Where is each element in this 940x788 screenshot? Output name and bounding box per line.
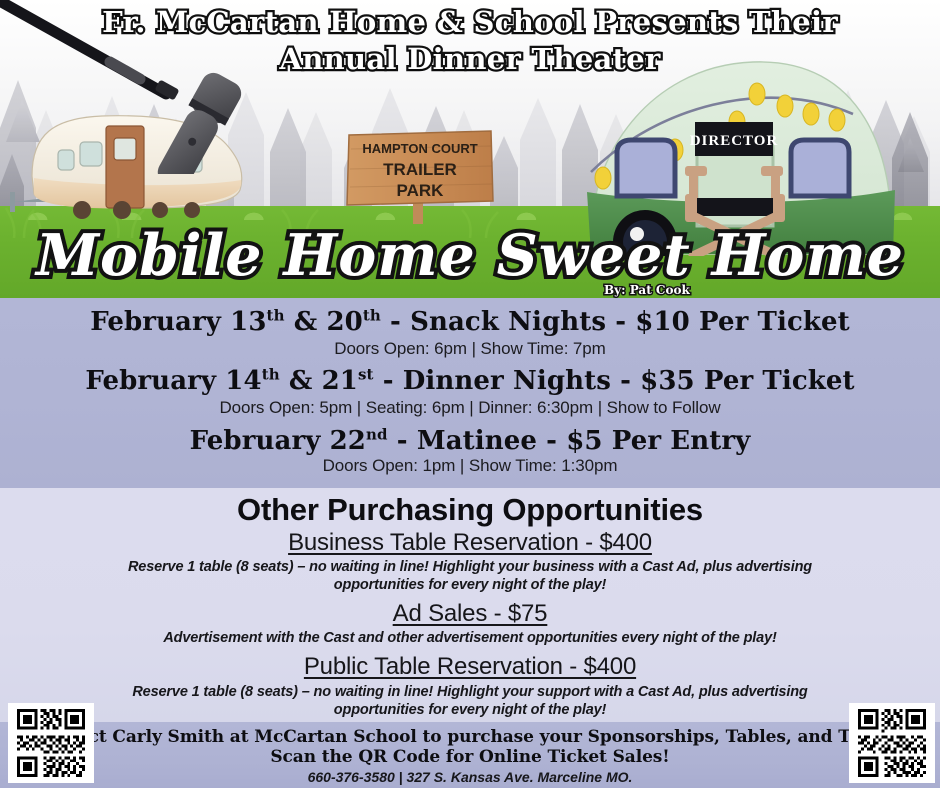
schedule-row-1-headline: February 13th & 20th - Snack Nights - $1… bbox=[0, 307, 940, 337]
sign-line-3: PARK bbox=[397, 181, 445, 200]
sign-line-1: HAMPTON COURT bbox=[362, 141, 477, 156]
schedule-row-3-headline: February 22nd - Matinee - $5 Per Entry bbox=[0, 426, 940, 456]
opportunity-2-heading: Ad Sales - $75 bbox=[0, 600, 940, 628]
schedule-row-2-details: Doors Open: 5pm | Seating: 6pm | Dinner:… bbox=[0, 398, 940, 418]
sched-2-sup1: th bbox=[262, 365, 280, 383]
opportunities-title: Other Purchasing Opportunities bbox=[0, 492, 940, 528]
opportunity-3-description: Reserve 1 table (8 seats) – no waiting i… bbox=[90, 683, 850, 719]
schedule-row-3-details: Doors Open: 1pm | Show Time: 1:30pm bbox=[0, 456, 940, 476]
footer-qr-line: Scan the QR Code for Online Ticket Sales… bbox=[0, 747, 940, 767]
header-line-2: Annual Dinner Theater bbox=[0, 41, 940, 78]
sched-2-post: - Dinner Nights - $35 Per Ticket bbox=[374, 366, 855, 396]
sched-1-post: - Snack Nights - $10 Per Ticket bbox=[381, 307, 850, 337]
opportunity-2-description-wrap: Advertisement with the Cast and other ad… bbox=[0, 629, 940, 647]
sched-1-sup2: th bbox=[363, 306, 381, 324]
opportunity-1-description-wrap: Reserve 1 table (8 seats) – no waiting i… bbox=[0, 558, 940, 594]
sched-2-mid: & 21 bbox=[280, 366, 358, 396]
schedule-row-1-details: Doors Open: 6pm | Show Time: 7pm bbox=[0, 339, 940, 359]
header-line-1: Fr. McCartan Home & School Presents Thei… bbox=[0, 4, 940, 41]
qr-code-left-icon bbox=[14, 706, 88, 780]
sched-2-sup2: st bbox=[358, 365, 374, 383]
opportunities-band: Other Purchasing Opportunities Business … bbox=[0, 488, 940, 722]
footer-address-line: 660-376-3580 | 327 S. Kansas Ave. Marcel… bbox=[0, 769, 940, 785]
opportunity-3-heading: Public Table Reservation - $400 bbox=[0, 653, 940, 681]
opportunity-3-description-wrap: Reserve 1 table (8 seats) – no waiting i… bbox=[0, 683, 940, 719]
opportunity-2-description: Advertisement with the Cast and other ad… bbox=[90, 629, 850, 647]
poster-header-title: Fr. McCartan Home & School Presents Thei… bbox=[0, 4, 940, 78]
qr-code-right-icon bbox=[855, 706, 929, 780]
opportunity-1-heading: Business Table Reservation - $400 bbox=[0, 529, 940, 557]
footer-band: Contact Carly Smith at McCartan School t… bbox=[0, 722, 940, 788]
sched-3-sup1: nd bbox=[366, 425, 388, 443]
opportunity-1-description: Reserve 1 table (8 seats) – no waiting i… bbox=[90, 558, 850, 594]
play-title: Mobile Home Sweet Home bbox=[0, 222, 940, 289]
sched-2-pre: February 14 bbox=[85, 366, 261, 396]
schedule-band: February 13th & 20th - Snack Nights - $1… bbox=[0, 298, 940, 488]
sched-1-sup1: th bbox=[267, 306, 285, 324]
sched-3-pre: February 22 bbox=[190, 426, 366, 456]
trailer-park-sign-icon: HAMPTON COURT TRAILER PARK bbox=[345, 129, 495, 224]
qr-code-ticket-sales-right[interactable] bbox=[849, 703, 935, 783]
qr-code-ticket-sales-left[interactable] bbox=[8, 703, 94, 783]
poster-root: HAMPTON COURT TRAILER PARK bbox=[0, 0, 940, 788]
hero-artwork: HAMPTON COURT TRAILER PARK bbox=[0, 0, 940, 298]
sched-1-mid: & 20 bbox=[285, 307, 363, 337]
sign-line-2: TRAILER bbox=[383, 160, 457, 179]
sched-3-post: - Matinee - $5 Per Entry bbox=[388, 426, 751, 456]
footer-contact-line: Contact Carly Smith at McCartan School t… bbox=[0, 727, 940, 747]
director-chair-label: DIRECTOR bbox=[690, 133, 779, 149]
schedule-row-2-headline: February 14th & 21st - Dinner Nights - $… bbox=[0, 366, 940, 396]
playwright-byline: By: Pat Cook bbox=[604, 283, 690, 297]
sched-1-pre: February 13 bbox=[90, 307, 266, 337]
